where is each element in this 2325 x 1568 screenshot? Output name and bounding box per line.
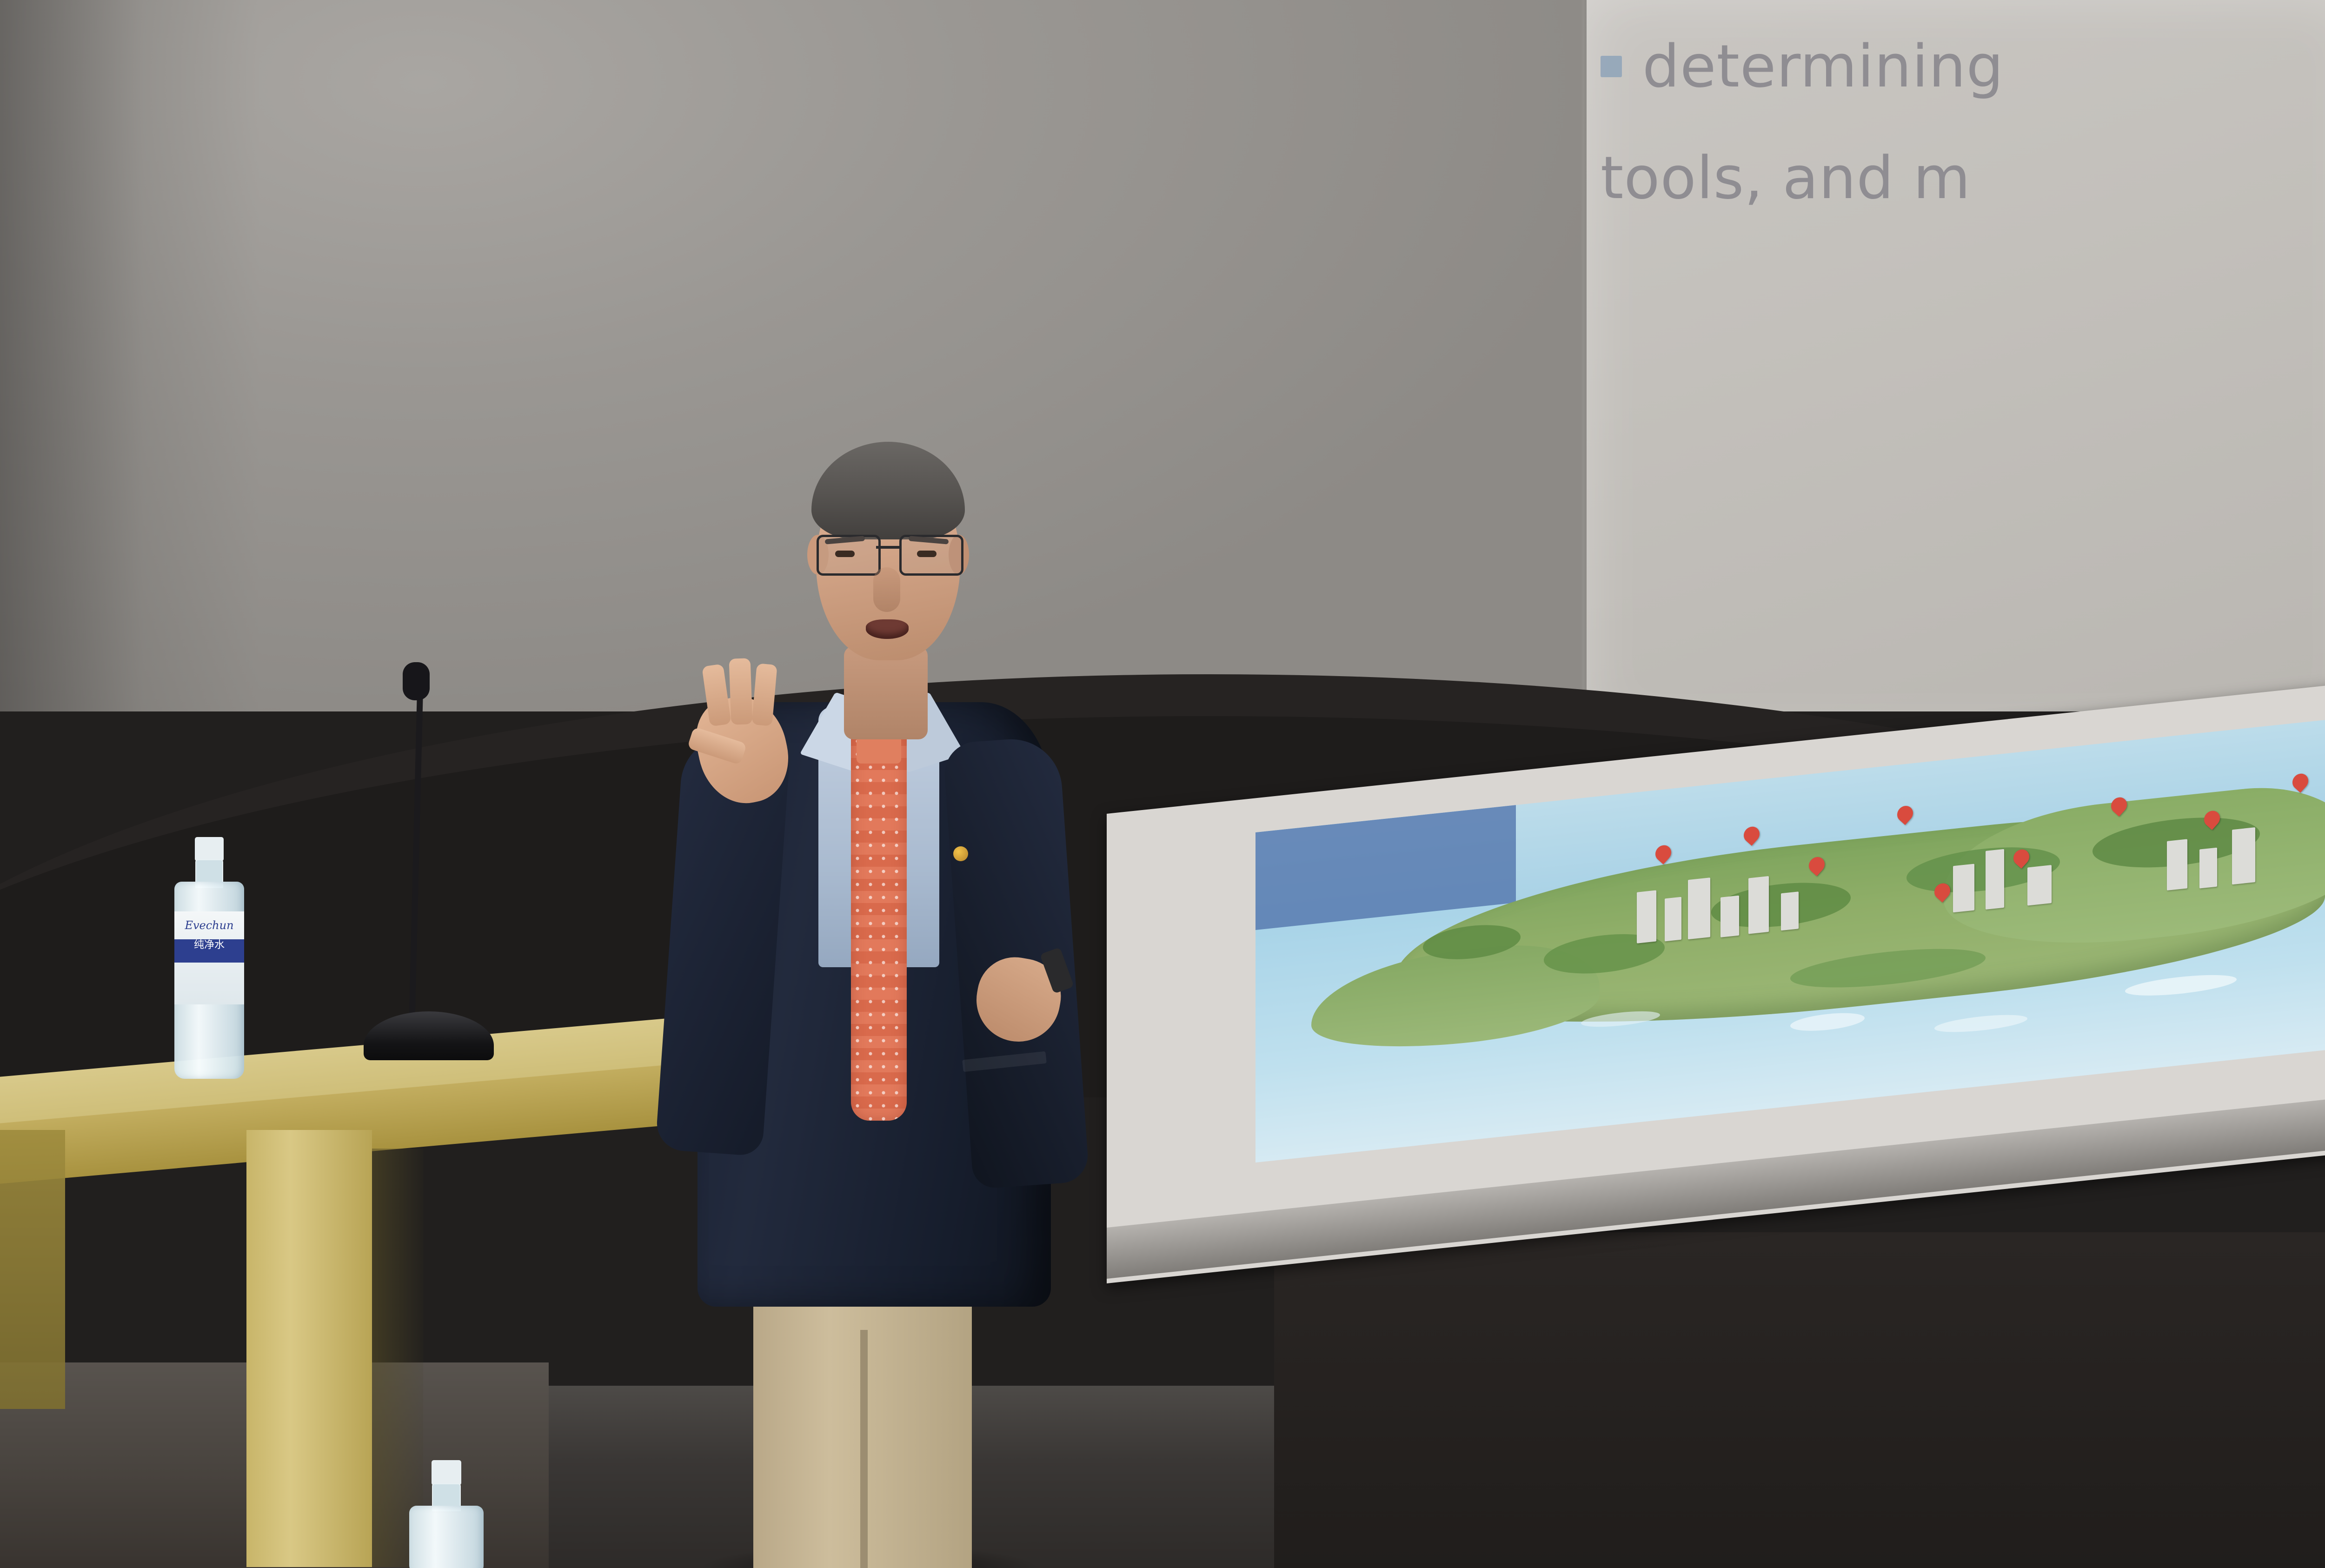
model-building [2027, 865, 2052, 905]
lectern-column [246, 1130, 372, 1567]
model-table-base [1274, 1232, 2325, 1568]
model-building [2167, 839, 2187, 890]
slide-line-1: determining [1642, 23, 2004, 110]
model-location-marker [1894, 803, 1916, 825]
presenter-nose [873, 567, 900, 612]
eyeglass-bridge [876, 546, 899, 549]
presenter-necktie-pattern [851, 735, 907, 1121]
bottle-cap [432, 1460, 461, 1485]
model-building [1748, 876, 1769, 934]
bottle-brand-script: Evechun [174, 919, 244, 932]
bottle-cap [195, 837, 224, 861]
model-building [1781, 891, 1799, 930]
microphone-capsule-icon [403, 662, 430, 700]
presenter-mouth [866, 619, 909, 639]
presenter-finger [729, 658, 753, 725]
model-building [1688, 877, 1710, 939]
model-location-marker [1652, 842, 1674, 864]
slide-content: determining tools, and m [1587, 0, 2325, 739]
model-building [2199, 848, 2217, 889]
photograph-scene: determining tools, and m [0, 0, 2325, 1568]
presenter-hair [811, 442, 965, 539]
model-building [1665, 897, 1681, 942]
wall-shadow [0, 0, 260, 818]
model-location-marker [2289, 771, 2312, 793]
presenter-trouser-seam [860, 1330, 868, 1568]
projection-screen: determining tools, and m [1587, 0, 2325, 739]
bottle-label: Evechun 纯净水 [174, 911, 244, 1004]
presenter-eye-left [835, 551, 855, 557]
model-building [1953, 864, 1974, 913]
presenter [581, 381, 1232, 1568]
model-building [2232, 827, 2255, 884]
lectern-side-panel [0, 1130, 65, 1409]
bullet-icon [1601, 56, 1622, 77]
wall-seam [1581, 0, 1586, 763]
model-building [1720, 896, 1739, 937]
presenter-eye-right [917, 551, 937, 557]
model-building [1637, 890, 1656, 943]
model-building [1986, 849, 2004, 910]
bottle-brand-band: 纯净水 [174, 939, 244, 963]
water-bottle-floor-left [409, 1460, 484, 1568]
model-location-marker [1740, 824, 1763, 846]
lapel-pin-icon [953, 846, 968, 861]
water-bottle-on-podium: Evechun 纯净水 [174, 837, 244, 1079]
bottle-body [409, 1506, 484, 1568]
presenter-neck [844, 646, 928, 739]
slide-line-2: tools, and m [1601, 135, 1971, 221]
